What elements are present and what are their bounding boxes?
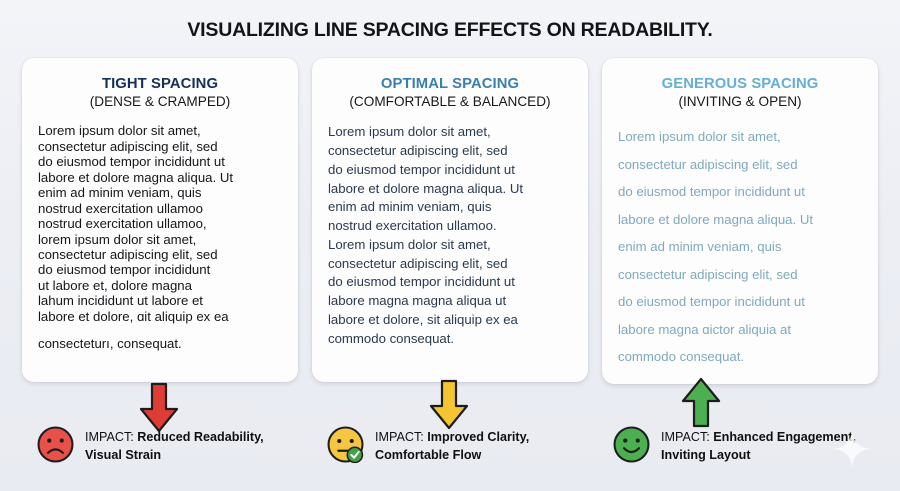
card-title-generous: GENEROUS SPACING [618, 76, 862, 93]
impact-label-tight: IMPACT: [85, 430, 137, 444]
card-body-optimal: Lorem ipsum dolor sit amet, consectetur … [328, 123, 572, 348]
impact-generous: IMPACT: Enhanced Engagement, Inviting La… [612, 424, 866, 465]
card-title-optimal: OPTIMAL SPACING [328, 76, 572, 93]
impact-text-generous: IMPACT: Enhanced Engagement, Inviting La… [661, 424, 866, 465]
sad-face-icon [36, 425, 75, 464]
cards-row: TIGHT SPACING (DENSE & CRAMPED) Lorem ip… [0, 58, 900, 384]
page-title: VISUALIZING LINE SPACING EFFECTS ON READ… [0, 19, 900, 42]
neutral-face-icon [326, 425, 365, 464]
card-body-tight: Lorem ipsum dolor sit amet, consectetur … [38, 123, 282, 324]
card-tight-spacing: TIGHT SPACING (DENSE & CRAMPED) Lorem ip… [22, 58, 298, 382]
card-generous-spacing: GENEROUS SPACING (INVITING & OPEN) Lorem… [602, 58, 878, 384]
impact-optimal: IMPACT: Improved Clarity, Comfortable Fl… [326, 424, 580, 465]
card-optimal-spacing: OPTIMAL SPACING (COMFORTABLE & BALANCED)… [312, 58, 588, 382]
impact-text-optimal: IMPACT: Improved Clarity, Comfortable Fl… [375, 424, 580, 465]
arrow-up-green-icon [678, 377, 724, 429]
card-subtitle-tight: (DENSE & CRAMPED) [38, 94, 282, 110]
impacts-row: IMPACT: Reduced Readability, Visual Stra… [0, 424, 900, 486]
happy-face-icon [612, 425, 651, 464]
impact-text-tight: IMPACT: Reduced Readability, Visual Stra… [85, 424, 290, 465]
card-body-tail-tight: consecteturı, consequat. [38, 336, 282, 351]
card-title-tight: TIGHT SPACING [38, 76, 282, 93]
card-body-generous: Lorem ipsum dolor sit amet, consectetur … [618, 123, 862, 370]
card-subtitle-optimal: (COMFORTABLE & BALANCED) [328, 94, 572, 110]
impact-label-generous: IMPACT: [661, 430, 713, 444]
check-badge-icon [347, 447, 362, 462]
card-subtitle-generous: (INVITING & OPEN) [618, 94, 862, 110]
impact-label-optimal: IMPACT: [375, 430, 427, 444]
impact-tight: IMPACT: Reduced Readability, Visual Stra… [36, 424, 290, 465]
